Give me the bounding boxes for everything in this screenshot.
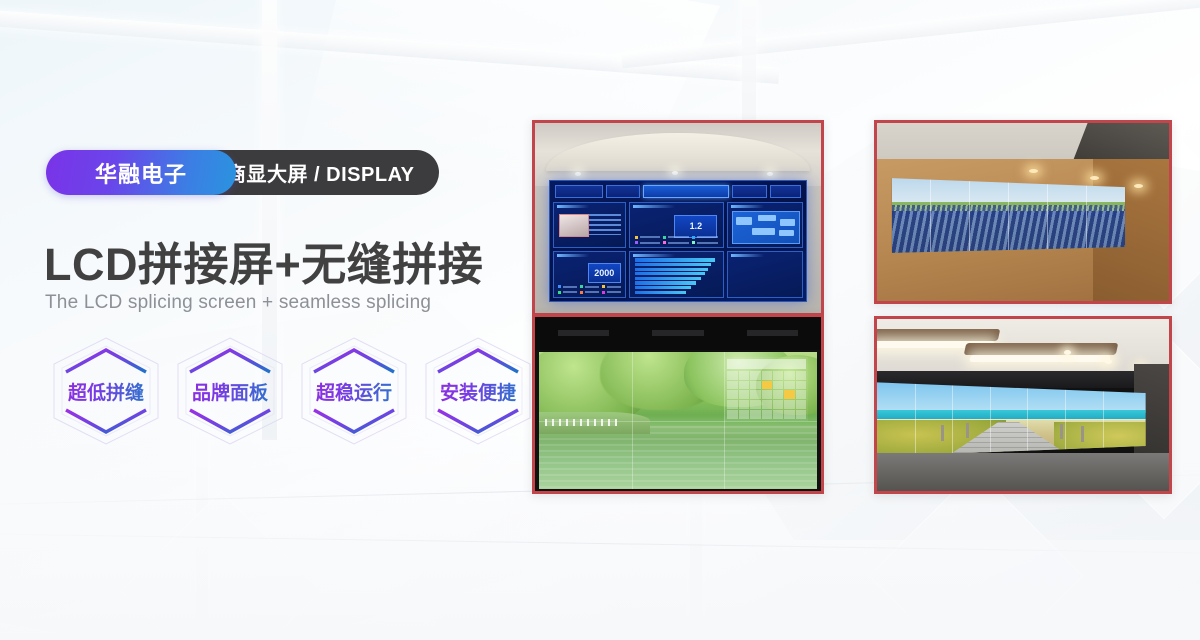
lake-video-wall-scene bbox=[535, 317, 821, 491]
downlight bbox=[1105, 359, 1112, 364]
product-banner: 商显大屏 / DISPLAY 华融电子 LCD拼接屏+无缝拼接 The LCD … bbox=[0, 0, 1200, 640]
dashboard-card-gauge: 2000 bbox=[553, 251, 626, 297]
dashboard-title-tab bbox=[643, 185, 729, 198]
pie-chart-pair bbox=[731, 266, 799, 291]
pie-chart bbox=[769, 266, 795, 292]
screen-bezel-top bbox=[535, 317, 821, 350]
dashboard-card-donut: 1.2 bbox=[629, 202, 724, 248]
screen-grass-right bbox=[1054, 422, 1145, 457]
ceiling-beam-horizontal-2 bbox=[621, 0, 1200, 68]
dashboard-tab bbox=[606, 185, 640, 198]
video-wall-screen bbox=[892, 178, 1126, 253]
chart-legend bbox=[558, 285, 622, 295]
background-diamond-3 bbox=[869, 469, 1084, 640]
ceiling-beam bbox=[963, 343, 1117, 355]
feature-hexagon-label-2: 品牌面板 bbox=[192, 378, 268, 405]
lobby-video-wall-scene bbox=[877, 319, 1169, 491]
dashboard-tab bbox=[555, 185, 602, 198]
photo-data-dashboard-video-wall[interactable]: 1.2 bbox=[532, 120, 824, 316]
feature-hexagon-2: 品牌面板 bbox=[170, 334, 290, 448]
kpi-value: 2000 bbox=[588, 263, 621, 284]
calendar-title bbox=[727, 359, 806, 368]
feature-hexagon-label-4: 安装便捷 bbox=[440, 378, 516, 405]
pie-chart bbox=[735, 266, 761, 292]
downlight bbox=[1064, 350, 1071, 355]
chart-legend bbox=[635, 235, 719, 245]
ceiling-beam bbox=[874, 329, 1001, 341]
feature-hexagon-3: 超稳运行 bbox=[294, 334, 414, 448]
dashboard-tab bbox=[732, 185, 766, 198]
calendar-grid bbox=[727, 371, 806, 419]
dashboard-card-media bbox=[553, 202, 626, 248]
photo-solar-farm-video-wall[interactable] bbox=[874, 120, 1172, 304]
ceiling-spotlight bbox=[672, 171, 678, 175]
flow-diagram bbox=[732, 211, 800, 244]
wall-light bbox=[1134, 184, 1143, 188]
feature-hexagon-label-3: 超稳运行 bbox=[316, 378, 392, 405]
floor bbox=[877, 453, 1169, 491]
banner-copy: 商显大屏 / DISPLAY 华融电子 LCD拼接屏+无缝拼接 The LCD … bbox=[0, 0, 530, 640]
photo-lake-scenery-video-wall[interactable] bbox=[532, 314, 824, 494]
feature-hexagon-4: 安装便捷 bbox=[418, 334, 538, 448]
screen-content bbox=[539, 352, 816, 489]
dashboard-card-bar-list bbox=[629, 251, 724, 297]
dashboard-tab bbox=[770, 185, 801, 198]
photo-beach-boardwalk-video-wall[interactable] bbox=[874, 316, 1172, 494]
feature-hexagon-label-1: 超低拼缝 bbox=[68, 378, 144, 405]
feature-hexagon-list: 超低拼缝 品牌面板 超稳运行 bbox=[46, 334, 538, 448]
page-title: LCD拼接屏+无缝拼接 bbox=[44, 228, 483, 293]
feature-hexagon-1: 超低拼缝 bbox=[46, 334, 166, 448]
lake-water bbox=[539, 426, 816, 489]
brand-badge: 华融电子 bbox=[46, 150, 236, 195]
badge-group: 商显大屏 / DISPLAY 华融电子 bbox=[46, 150, 236, 195]
dashboard-room-scene: 1.2 bbox=[535, 123, 821, 313]
corridor-video-wall-scene bbox=[877, 123, 1169, 301]
dashboard-header bbox=[553, 184, 802, 199]
dashboard-screen: 1.2 bbox=[549, 180, 806, 302]
calendar-overlay bbox=[725, 357, 808, 420]
bar-list bbox=[635, 258, 719, 294]
dashboard-card-flow-diagram bbox=[727, 202, 803, 248]
dashboard-card-pie bbox=[727, 251, 803, 297]
ceiling-light bbox=[970, 355, 1112, 362]
page-subtitle: The LCD splicing screen + seamless splic… bbox=[45, 292, 431, 314]
video-wall-screen bbox=[877, 381, 1146, 457]
dashboard-grid: 1.2 bbox=[553, 202, 802, 298]
